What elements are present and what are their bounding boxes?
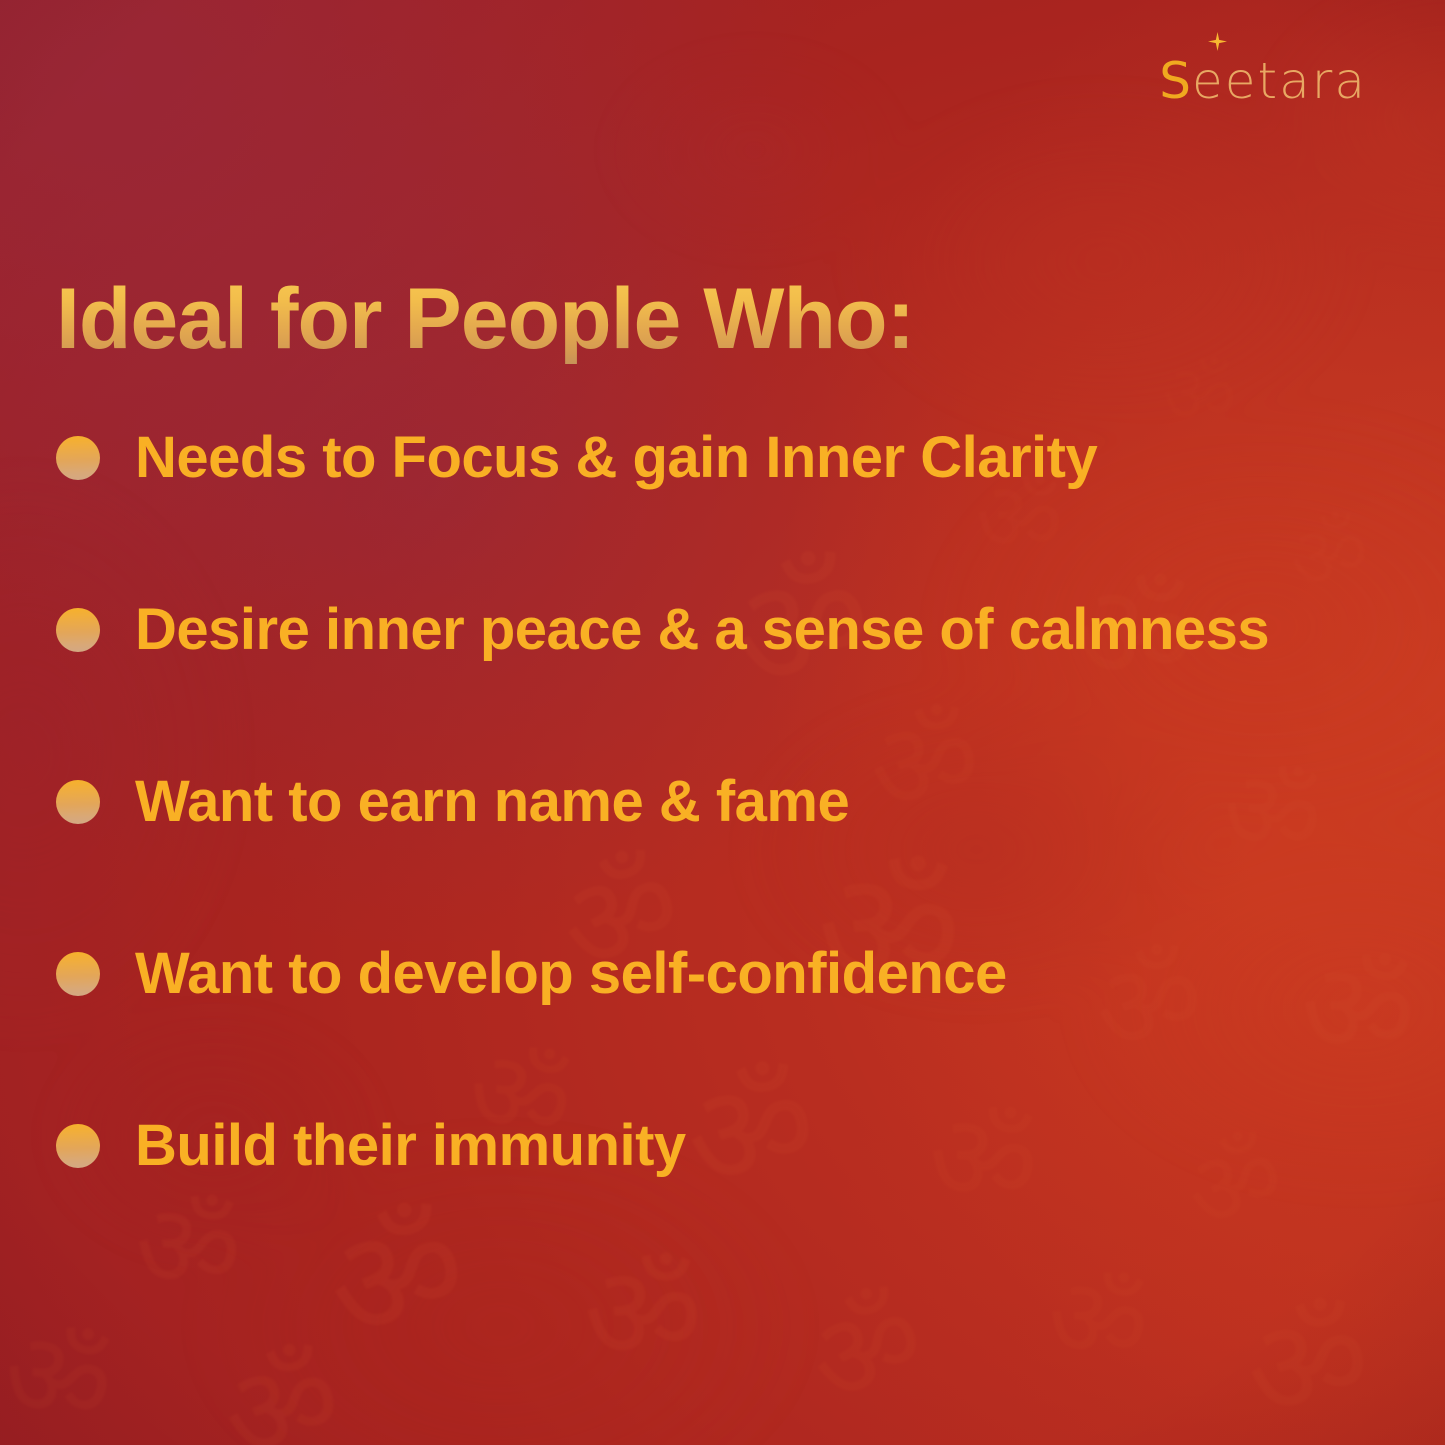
list-item: Desire inner peace & a sense of calmness: [56, 574, 1425, 686]
list-item-label: Build their immunity: [135, 1114, 686, 1178]
list-item-label: Needs to Focus & gain Inner Clarity: [135, 426, 1097, 490]
filled-circle-bullet-icon: [56, 608, 100, 652]
filled-circle-bullet-icon: [56, 952, 100, 996]
poster-canvas: ॐॐॐॐॐॐॐॐॐॐॐॐॐॐॐॐॐॐॐॐॐॐॐ S eetara Ideal f…: [0, 0, 1445, 1445]
list-item: Want to earn name & fame: [56, 746, 1425, 858]
list-item-label: Want to develop self-confidence: [135, 942, 1007, 1006]
filled-circle-bullet-icon: [56, 436, 100, 480]
list-item: Want to develop self-confidence: [56, 918, 1425, 1030]
list-item: Needs to Focus & gain Inner Clarity: [56, 402, 1425, 514]
brand-logo-wordmark-text: eetara: [1192, 52, 1367, 110]
sparkle-star-icon: [1208, 32, 1227, 51]
page-title: Ideal for People Who:: [56, 274, 914, 364]
filled-circle-bullet-icon: [56, 780, 100, 824]
list-item: Build their immunity: [56, 1090, 1425, 1202]
brand-logo-initial: S: [1159, 52, 1192, 110]
benefits-list: Needs to Focus & gain Inner ClarityDesir…: [56, 402, 1425, 1202]
brand-logo[interactable]: S eetara: [1159, 52, 1367, 110]
filled-circle-bullet-icon: [56, 1124, 100, 1168]
brand-logo-wordmark: eetara: [1192, 52, 1367, 110]
list-item-label: Desire inner peace & a sense of calmness: [135, 598, 1269, 662]
list-item-label: Want to earn name & fame: [135, 770, 849, 834]
